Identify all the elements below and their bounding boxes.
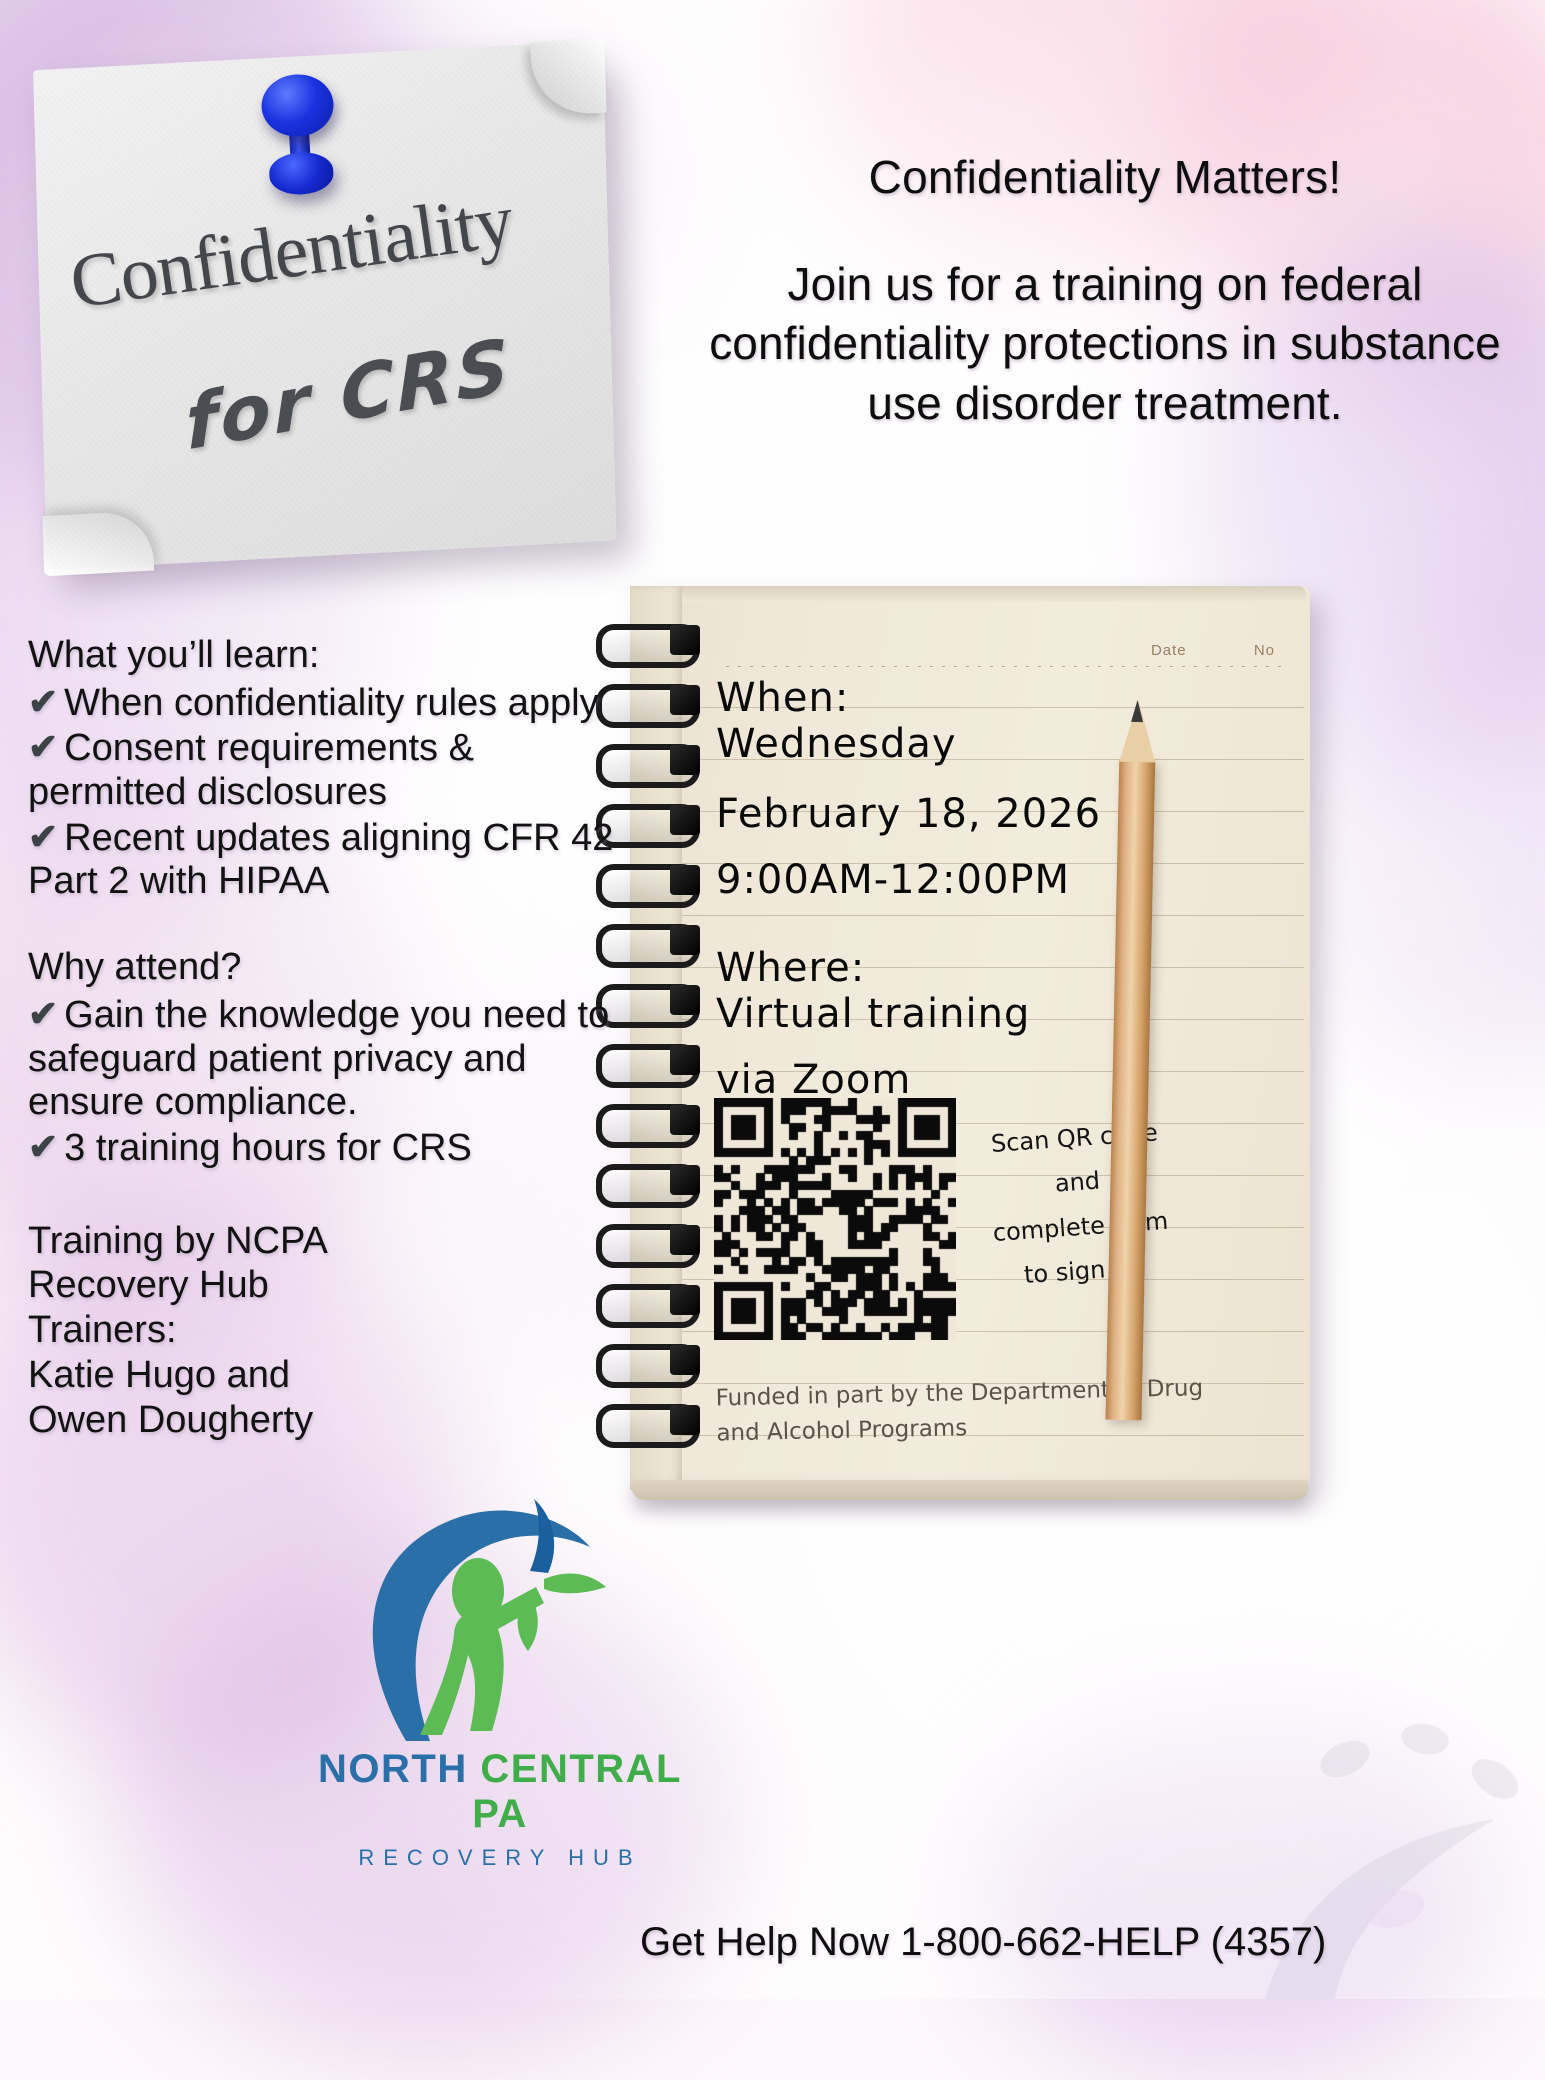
page-title: Confidentiality Matters!	[690, 152, 1520, 203]
learn-heading: What you’ll learn:	[28, 634, 628, 678]
where-label: Where:	[716, 948, 865, 988]
trainer-line-5: Owen Dougherty	[28, 1398, 628, 1443]
header-block: Confidentiality Matters! Join us for a t…	[690, 152, 1520, 434]
trainer-block: Training by NCPA Recovery Hub Trainers: …	[28, 1219, 628, 1443]
where-line-1: Virtual training	[716, 994, 1276, 1034]
list-item: ✔Recent updates aligning CFR 42 Part 2 w…	[28, 817, 628, 904]
details-column: What you’ll learn: ✔When confidentiality…	[28, 634, 628, 1443]
list-item-label: Gain the knowledge you need to safeguard…	[28, 994, 609, 1123]
trainer-line-3: Trainers:	[28, 1308, 628, 1353]
logo-name-part-2: CENTRAL PA	[472, 1747, 682, 1836]
notebook-meta: Date No	[1089, 642, 1275, 659]
list-item-label: Consent requirements & permitted disclos…	[28, 727, 474, 813]
list-item-label: When confidentiality rules apply	[64, 682, 598, 724]
logo-mark-icon	[358, 1495, 638, 1745]
notebook-text: When: Wednesday February 18, 2026 9:00AM…	[716, 678, 1276, 1106]
notebook-date-label: Date	[1151, 642, 1187, 659]
when-label: When:	[716, 678, 849, 718]
trainer-line-4: Katie Hugo and	[28, 1353, 628, 1398]
list-item: ✔Consent requirements & permitted disclo…	[28, 727, 628, 814]
when-time: 9:00AM-12:00PM	[716, 860, 1276, 900]
check-icon: ✔	[28, 681, 58, 722]
ncpa-recovery-hub-logo: NORTH CENTRAL PA RECOVERY HUB	[300, 1495, 700, 1825]
list-item: ✔3 training hours for CRS	[28, 1127, 628, 1171]
check-icon: ✔	[28, 993, 58, 1034]
when-day: Wednesday	[716, 724, 1276, 764]
funding-statement: Funded in part by the Department of Drug…	[715, 1371, 1236, 1451]
notebook-no-label: No	[1254, 642, 1275, 659]
why-heading: Why attend?	[28, 946, 628, 990]
trainer-line-2: Recovery Hub	[28, 1263, 628, 1308]
why-list: ✔Gain the knowledge you need to safeguar…	[28, 994, 628, 1171]
when-date: February 18, 2026	[716, 794, 1276, 834]
trainer-line-1: Training by NCPA	[28, 1219, 628, 1264]
learn-list: ✔When confidentiality rules apply ✔Conse…	[28, 682, 628, 904]
logo-tagline: RECOVERY HUB	[300, 1845, 700, 1871]
sticky-note-graphic: Confidentiality for CRS	[0, 8, 665, 613]
pin-icon	[240, 72, 357, 198]
check-icon: ✔	[28, 816, 58, 857]
qr-code-icon[interactable]	[714, 1098, 956, 1340]
check-icon: ✔	[28, 726, 58, 767]
list-item: ✔Gain the knowledge you need to safeguar…	[28, 994, 628, 1125]
where-line-2: via Zoom	[716, 1060, 1276, 1100]
list-item-label: 3 training hours for CRS	[64, 1127, 472, 1169]
helpline-text: Get Help Now 1-800-662-HELP (4357)	[640, 1920, 1545, 1965]
qr-instructions: Scan QR code and complete form to sign u…	[968, 1109, 1190, 1301]
logo-name-part-1: NORTH	[318, 1747, 468, 1791]
list-item-label: Recent updates aligning CFR 42 Part 2 wi…	[28, 817, 613, 903]
check-icon: ✔	[28, 1126, 58, 1167]
list-item: ✔When confidentiality rules apply	[28, 682, 628, 726]
notebook-graphic: Date No When: Wednesday February 18, 202…	[596, 586, 1311, 1490]
header-paragraph: Join us for a training on federal confid…	[690, 255, 1520, 434]
